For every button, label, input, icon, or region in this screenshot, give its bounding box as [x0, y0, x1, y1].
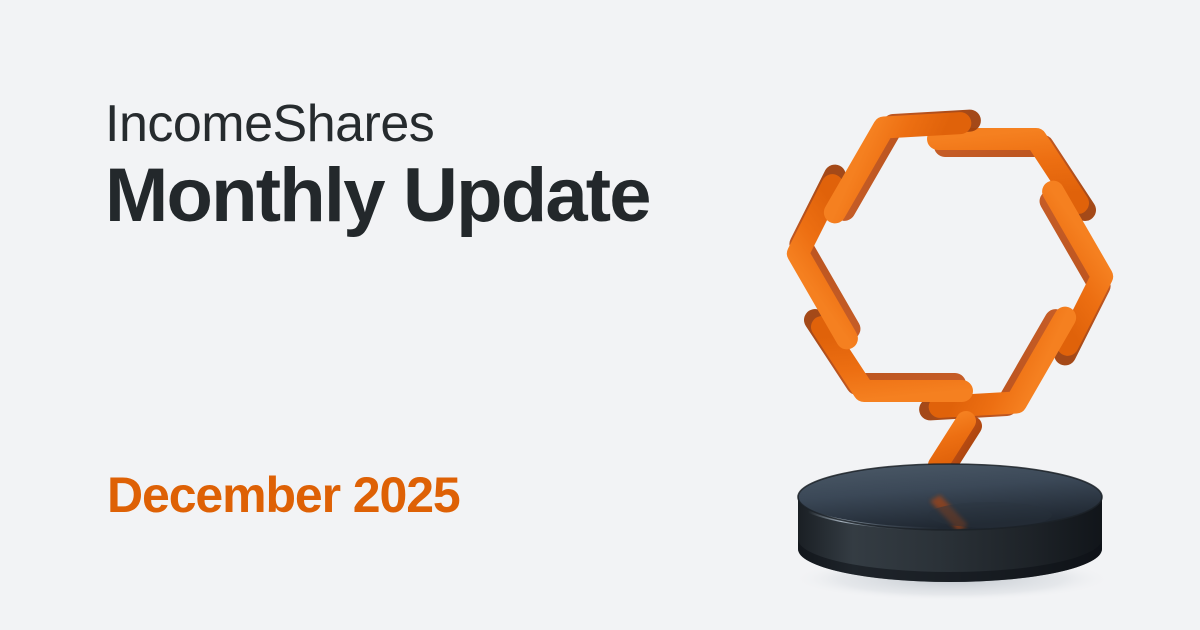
logo-stage — [770, 55, 1130, 575]
page-title: Monthly Update — [105, 156, 785, 237]
date-label: December 2025 — [107, 466, 460, 524]
brand-name: IncomeShares — [105, 96, 785, 152]
pedestal-disc-icon — [790, 453, 1110, 603]
incomeshares-logo-icon — [770, 55, 1130, 475]
headline-text-block: IncomeShares Monthly Update — [105, 96, 785, 237]
monthly-update-banner: IncomeShares Monthly Update December 202… — [0, 0, 1200, 630]
